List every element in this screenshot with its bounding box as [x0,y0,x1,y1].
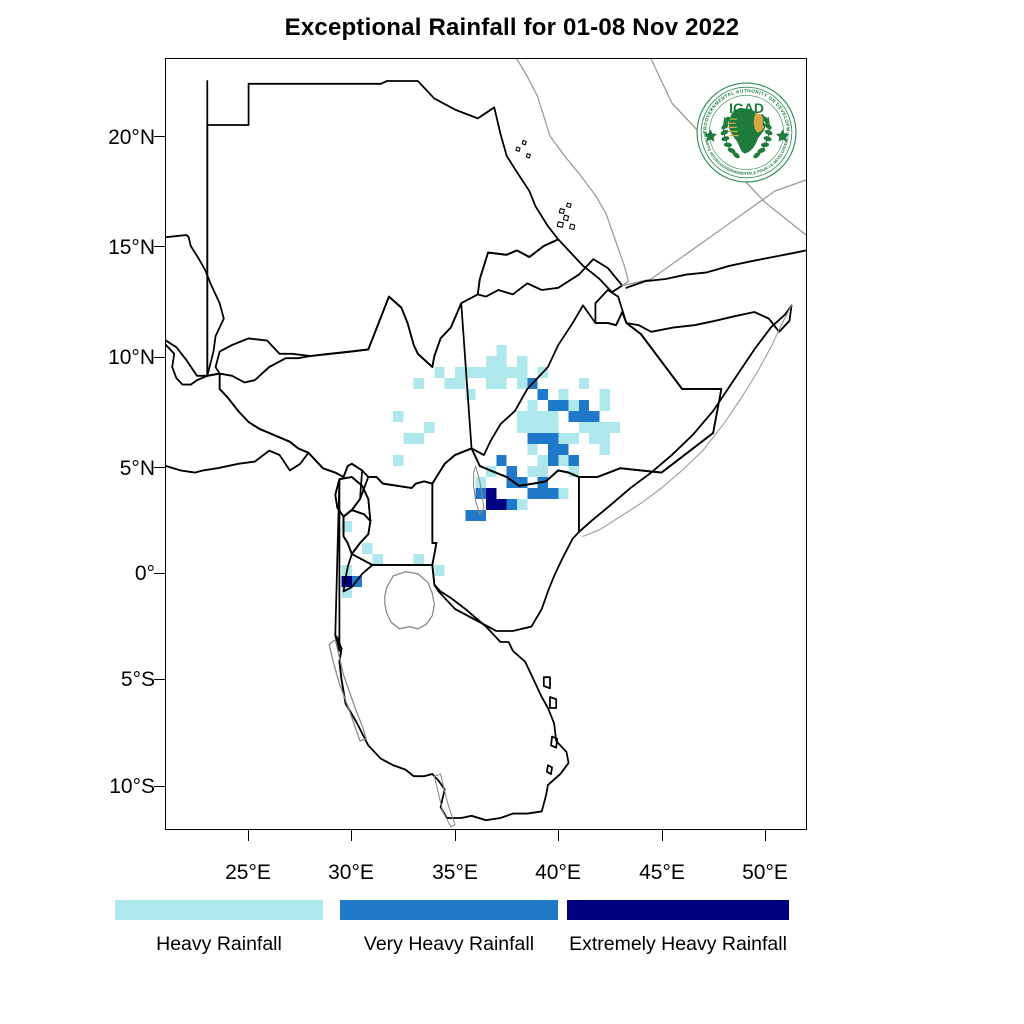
x-tick-mark [765,830,766,841]
legend-entry-heavy[interactable]: Heavy Rainfall [115,900,323,956]
x-tick-mark [351,830,352,841]
border-kenya [432,448,579,631]
rainfall-cell [600,389,610,400]
logo-acronym: IGAD [729,100,764,116]
rainfall-cell [455,378,465,389]
rainfall-cell [507,466,517,477]
igad-logo: INTERGOVERNMENTAL AUTHORITY ON DEVELOPME… [695,81,798,184]
coast-red-sea-east [517,59,628,286]
rainfall-cell [393,455,403,466]
legend-entry-extremely-heavy[interactable]: Extremely Heavy Rainfall [567,900,789,956]
legend-label-heavy: Heavy Rainfall [115,933,323,956]
rainfall-cell [465,510,475,521]
lake-victoria [385,572,435,629]
rainfall-cell [527,433,537,444]
rainfall-cell [414,554,424,565]
rainfall-cell [486,356,496,367]
rainfall-cell [517,499,527,510]
legend-label-extremely-heavy: Extremely Heavy Rainfall [567,933,789,956]
border-tanzania [335,477,568,820]
rainfall-cell [393,411,403,422]
rainfall-cell [527,466,537,477]
rainfall-cell [600,444,610,455]
rainfall-cell [434,367,444,378]
rainfall-cell [527,411,537,422]
border-chad [166,125,207,385]
rainfall-cell [548,444,558,455]
y-tick-label-5n: 5°N [60,457,155,481]
rainfall-cell [548,411,558,422]
rainfall-cell [600,433,610,444]
rainfall-cell [486,488,496,499]
x-tick-mark [558,830,559,841]
rainfall-cell [579,378,589,389]
rainfall-cell [600,400,610,411]
rainfall-cell [414,378,424,389]
rainfall-cell [517,422,527,433]
border-uganda [344,477,437,591]
rainfall-cell [527,488,537,499]
legend-swatch-very-heavy [340,900,558,920]
rainfall-cell [538,422,548,433]
rainfall-cell [362,543,372,554]
rainfall-cell [558,433,568,444]
rainfall-cell [538,466,548,477]
map-plot-area: INTERGOVERNMENTAL AUTHORITY ON DEVELOPME… [165,58,807,830]
rainfall-cell [579,411,589,422]
rainfall-cell [527,444,537,455]
rainfall-cell [569,411,579,422]
legend-swatch-extremely-heavy [567,900,789,920]
y-tick-mark [154,467,165,468]
x-tick-mark [455,830,456,841]
coast-yemen-south [626,250,806,287]
y-tick-label-20n: 20°N [60,126,155,150]
rainfall-cell [445,378,455,389]
rainfall-cell [558,488,568,499]
border-somalia [579,305,792,532]
rainfall-cell [496,378,506,389]
rainfall-cell [507,499,517,510]
rainfall-cell [589,433,599,444]
rainfall-cell [579,400,589,411]
rainfall-cell [517,378,527,389]
legend: Heavy Rainfall Very Heavy Rainfall Extre… [0,900,1024,970]
rainfall-cell [548,433,558,444]
rainfall-cell [600,422,610,433]
rainfall-cell [486,378,496,389]
rainfall-cell [496,345,506,356]
rainfall-cell [414,433,424,444]
y-tick-mark [154,357,165,358]
rainfall-cell [558,389,568,400]
rainfall-cell [558,455,568,466]
x-tick-label-45e: 45°E [612,861,712,885]
rainfall-cell [548,488,558,499]
rainfall-cell [476,367,486,378]
rainfall-cell [476,510,486,521]
page-title: Exceptional Rainfall for 01-08 Nov 2022 [0,14,1024,42]
rainfall-cell [589,411,599,422]
x-tick-label-50e: 50°E [715,861,815,885]
y-tick-label-10n: 10°N [60,346,155,370]
legend-entry-very-heavy[interactable]: Very Heavy Rainfall [340,900,558,956]
y-tick-mark [154,786,165,787]
rainfall-cell [517,367,527,378]
rainfall-raster-layer [341,345,620,598]
rainfall-cell [517,356,527,367]
y-tick-mark [154,679,165,680]
rainfall-cell [527,400,537,411]
igad-logo-svg: INTERGOVERNMENTAL AUTHORITY ON DEVELOPME… [695,81,798,184]
rainfall-cell [558,444,568,455]
rainfall-cell [538,433,548,444]
y-tick-label-0: 0° [60,562,155,586]
border-car [166,341,308,473]
rainfall-cell [434,565,444,576]
x-tick-label-25e: 25°E [198,861,298,885]
rainfall-cell [517,411,527,422]
y-tick-mark [154,573,165,574]
rainfall-cell [424,422,434,433]
y-tick-mark [154,136,165,137]
border-eritrea [478,239,623,296]
rainfall-cell [341,576,351,587]
legend-swatch-heavy [115,900,323,920]
rainfall-cell [496,356,506,367]
rainfall-cell [538,455,548,466]
rainfall-cell [548,455,558,466]
rainfall-cell [486,367,496,378]
y-tick-mark [154,246,165,247]
rainfall-cell [579,422,589,433]
rainfall-cell [538,411,548,422]
x-tick-mark [248,830,249,841]
rainfall-cell [548,400,558,411]
x-tick-label-40e: 40°E [508,861,608,885]
x-tick-label-30e: 30°E [301,861,401,885]
legend-label-very-heavy: Very Heavy Rainfall [340,933,558,956]
rainfall-cell [538,389,548,400]
border-sudan [207,81,558,376]
rainfall-cell [507,367,517,378]
rainfall-cell [569,455,579,466]
y-tick-label-15n: 15°N [60,236,155,260]
border-djibouti [595,290,626,325]
rainfall-cell [527,422,537,433]
x-tick-mark [662,830,663,841]
y-tick-label-10s: 10°S [60,775,155,799]
rainfall-cell [496,455,506,466]
rainfall-cell [486,499,496,510]
rainfall-cell [403,433,413,444]
x-tick-label-35e: 35°E [405,861,505,885]
rainfall-cell [496,367,506,378]
rainfall-cell [589,422,599,433]
rainfall-cell [569,433,579,444]
y-tick-label-5s: 5°S [60,668,155,692]
rainfall-cell [569,400,579,411]
rainfall-cell [538,488,548,499]
lake-tanganyika [329,640,366,741]
rainfall-cell [548,422,558,433]
rainfall-cell [496,499,506,510]
rainfall-cell [455,367,465,378]
rainfall-cell [372,554,382,565]
border-ethiopia [472,305,722,485]
rainfall-cell [610,422,620,433]
rainfall-cell [558,400,568,411]
rainfall-map-figure: Exceptional Rainfall for 01-08 Nov 2022 … [0,0,1024,1024]
